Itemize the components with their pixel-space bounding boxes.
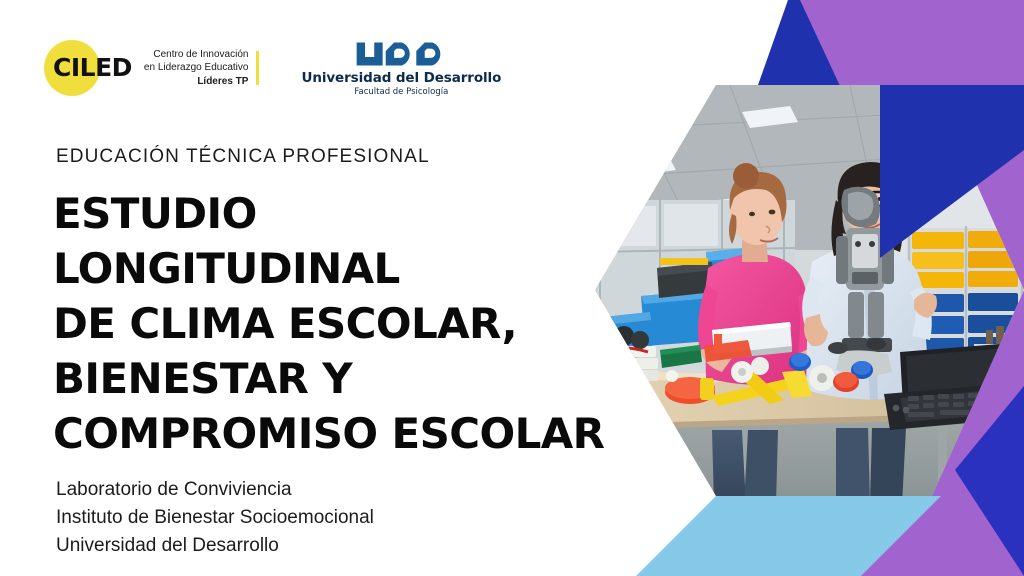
title-line-4: COMPROMISO ESCOLAR <box>53 406 613 461</box>
udd-monogram-icon <box>349 41 453 67</box>
page-title: ESTUDIO LONGITUDINAL DE CLIMA ESCOLAR, B… <box>53 186 613 461</box>
title-line-2: DE CLIMA ESCOLAR, <box>53 296 613 351</box>
title-line-3: BIENESTAR Y <box>53 351 613 406</box>
ciled-wordmark: CILED <box>53 37 132 99</box>
affiliation-block: Laboratorio de Conviviencia Instituto de… <box>56 476 374 560</box>
title-line-1: ESTUDIO LONGITUDINAL <box>53 186 613 296</box>
ciled-tagline-line-2: en Liderazgo Educativo <box>144 61 249 75</box>
udd-name: Universidad del Desarrollo <box>301 70 501 86</box>
affiliation-line-1: Laboratorio de Conviviencia <box>56 476 374 504</box>
title-slide: CILED Centro de Innovación en Liderazgo … <box>0 0 1024 576</box>
logo-row: CILED Centro de Innovación en Liderazgo … <box>44 36 501 100</box>
ciled-tagline-text: Centro de Innovación en Liderazgo Educat… <box>144 48 249 89</box>
udd-faculty: Facultad de Psicología <box>354 87 448 97</box>
udd-logo: Universidad del Desarrollo Facultad de P… <box>301 39 501 97</box>
ciled-tagline: Centro de Innovación en Liderazgo Educat… <box>144 48 260 89</box>
ciled-divider-bar <box>256 51 259 85</box>
affiliation-line-2: Instituto de Bienestar Socioemocional <box>56 504 374 532</box>
affiliation-line-3: Universidad del Desarrollo <box>56 532 374 560</box>
ciled-tagline-line-1: Centro de Innovación <box>144 48 249 62</box>
eyebrow-label: EDUCACIÓN TÉCNICA PROFESIONAL <box>56 146 430 168</box>
ciled-logo: CILED Centro de Innovación en Liderazgo … <box>44 37 259 99</box>
ciled-tagline-line-3: Líderes TP <box>144 75 249 89</box>
